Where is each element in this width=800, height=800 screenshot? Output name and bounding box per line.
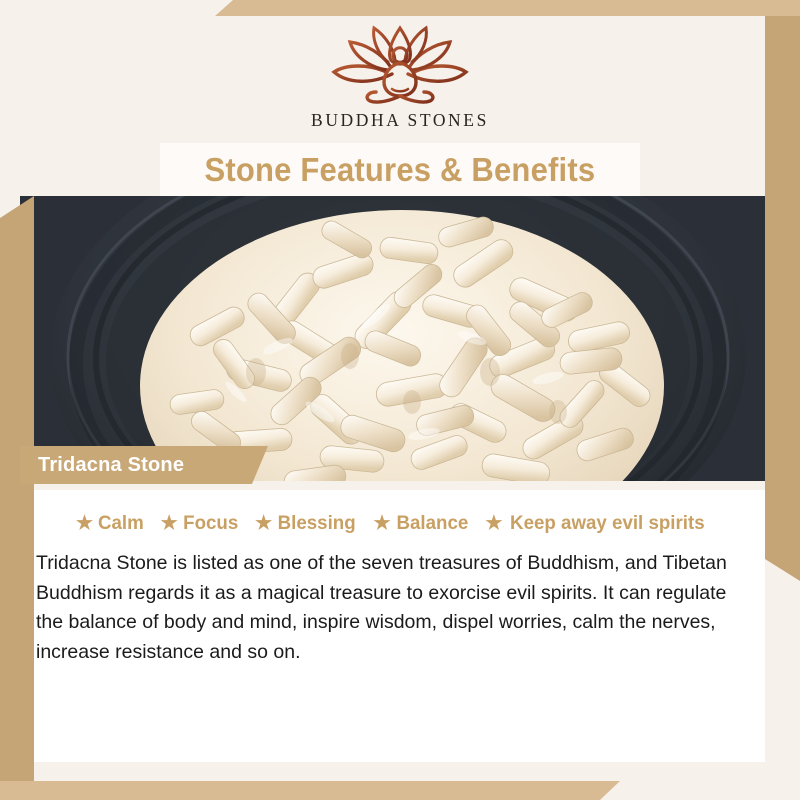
feature-label: Calm	[98, 512, 144, 535]
decor-top-bar	[215, 0, 800, 16]
tridacna-stone-bowl-image	[20, 196, 765, 481]
promo-banner: BUDDHA STONES Stone Features & Benefits	[0, 0, 800, 800]
decor-right-bar	[765, 16, 800, 581]
decor-left-bar	[0, 196, 34, 800]
content-card: ★ Calm ★ Focus ★ Blessing ★ Balance ★ Ke…	[20, 490, 765, 762]
feature-item-focus: ★ Focus	[161, 512, 239, 535]
feature-label: Focus	[183, 512, 238, 535]
star-icon: ★	[373, 514, 390, 533]
feature-item-balance: ★ Balance	[373, 512, 469, 535]
brand-logo: BUDDHA STONES	[0, 22, 800, 131]
star-icon: ★	[76, 514, 93, 533]
brand-name: BUDDHA STONES	[311, 110, 489, 131]
page-title: Stone Features & Benefits	[205, 151, 596, 189]
product-caption-label: Tridacna Stone	[38, 454, 184, 477]
star-icon: ★	[485, 514, 502, 533]
feature-list: ★ Calm ★ Focus ★ Blessing ★ Balance ★ Ke…	[20, 490, 765, 535]
feature-label: Balance	[396, 512, 468, 535]
lotus-meditation-figure-logo-icon	[316, 22, 484, 104]
description-block: Tridacna Stone is listed as one of the s…	[20, 535, 765, 668]
feature-label: Blessing	[278, 512, 356, 535]
star-icon: ★	[255, 514, 272, 533]
card-footer-spacer	[20, 762, 765, 782]
feature-item-blessing: ★ Blessing	[255, 512, 357, 535]
product-photo	[20, 196, 765, 481]
feature-label: Keep away evil spirits	[510, 512, 705, 535]
feature-item-calm: ★ Calm	[76, 512, 145, 535]
decor-bottom-bar	[0, 781, 620, 800]
product-caption: Tridacna Stone	[20, 446, 268, 484]
star-icon: ★	[161, 514, 178, 533]
description-text: Tridacna Stone is listed as one of the s…	[36, 549, 751, 668]
feature-item-keep-away-evil-spirits: ★ Keep away evil spirits	[485, 512, 709, 535]
section-title-plaque: Stone Features & Benefits	[160, 143, 640, 196]
